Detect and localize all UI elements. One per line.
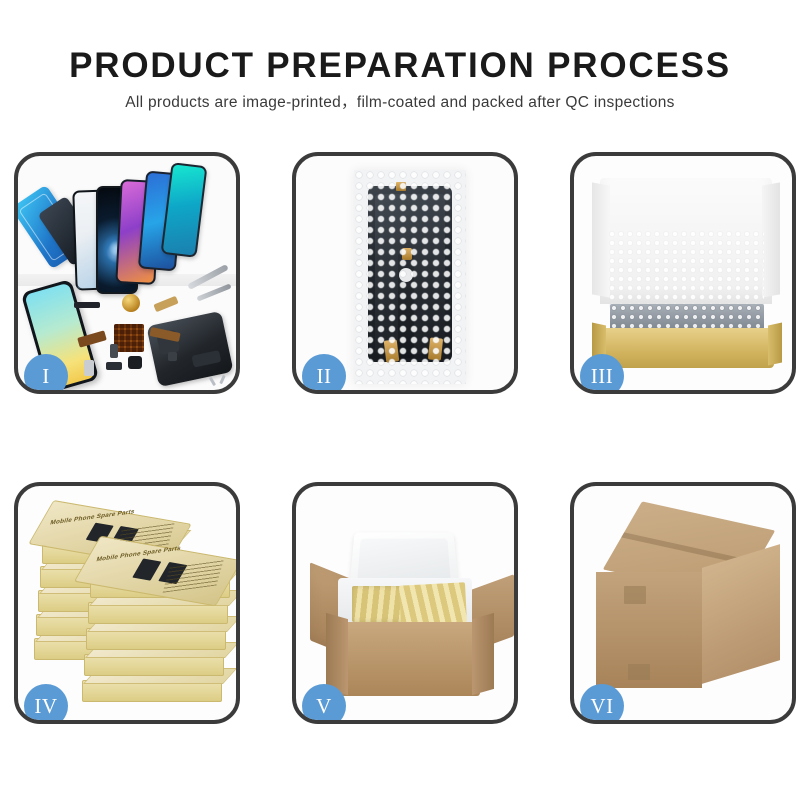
phone-screen	[163, 164, 205, 255]
step-badge-5: V	[302, 684, 346, 724]
box-window-1	[133, 559, 162, 581]
sim-tray-icon	[84, 360, 94, 376]
box-layer	[86, 628, 226, 650]
step-panel-2: II	[292, 152, 518, 394]
process-steps-grid: I II	[14, 152, 800, 724]
step-badge-2: II	[302, 354, 346, 394]
screw-icon-2	[209, 377, 216, 386]
step-panel-6: VI	[570, 482, 796, 724]
open-carton	[316, 512, 506, 704]
step-panel-4: Mobile Phone Spare Parts Mobile Phone Sp…	[14, 482, 240, 724]
page-title: PRODUCT PREPARATION PROCESS	[0, 44, 800, 88]
box-label-text: Mobile Phone Spare Parts	[49, 508, 135, 526]
step-badge-3: III	[580, 354, 624, 394]
bubble-wrapped-contents	[610, 304, 764, 330]
chip-grid-icon	[114, 324, 144, 352]
box-layer	[88, 602, 228, 624]
box-layer	[84, 654, 224, 676]
earpiece-icon	[106, 362, 122, 370]
bubble-texture	[354, 170, 466, 384]
back-housing-icon	[146, 311, 233, 387]
packed-boxes-row-2	[399, 582, 467, 625]
product-preparation-infographic: PRODUCT PREPARATION PROCESS All products…	[0, 0, 800, 800]
sealed-carton	[590, 516, 786, 696]
kraft-box-base	[600, 328, 774, 368]
carton-side-face	[702, 544, 780, 684]
box-label-text: Mobile Phone Spare Parts	[96, 544, 182, 562]
flex-cable-icon-3	[153, 296, 178, 312]
speaker-part-icon	[74, 302, 100, 308]
step-panel-1: I	[14, 152, 240, 394]
open-kraft-box	[592, 178, 782, 374]
carton-body	[340, 622, 480, 696]
button-part-icon	[168, 352, 177, 361]
step-badge-6: VI	[580, 684, 624, 724]
foam-sheet-icon	[608, 230, 764, 308]
step-panel-5: V	[292, 482, 518, 724]
box-layer	[82, 680, 222, 702]
screwdriver-icon	[196, 283, 231, 301]
tape-mark-2	[628, 664, 650, 680]
stacked-boxes: Mobile Phone Spare Parts Mobile Phone Sp…	[28, 504, 234, 710]
bubble-wrap-bag	[354, 170, 466, 384]
step-badge-4: IV	[24, 684, 68, 724]
step-panel-3: III	[570, 152, 796, 394]
page-subtitle: All products are image-printed，film-coat…	[0, 92, 800, 114]
vibrator-motor-icon	[122, 294, 140, 312]
screw-icon-1	[219, 375, 225, 384]
volume-button-icon	[110, 344, 118, 358]
tape-mark-1	[624, 586, 646, 604]
step-badge-1: I	[24, 354, 68, 394]
camera-module-icon	[128, 356, 142, 369]
